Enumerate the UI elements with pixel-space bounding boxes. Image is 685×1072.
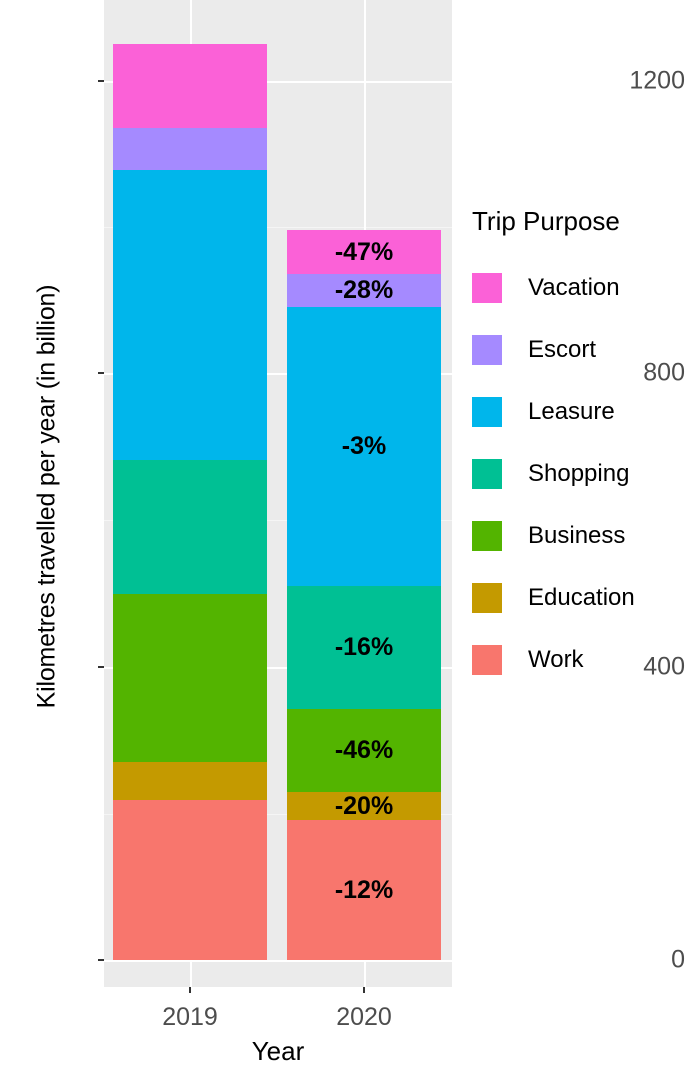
legend-item-label: Escort: [528, 336, 596, 364]
legend-item-business[interactable]: Business: [472, 505, 685, 567]
bar-segment-2020-escort[interactable]: -28%: [287, 274, 441, 307]
y-tick-label-0: 0: [593, 946, 685, 975]
legend-swatch-icon: [472, 273, 502, 303]
legend: Trip Purpose VacationEscortLeasureShoppi…: [472, 206, 685, 691]
bar-segment-2019-work[interactable]: [113, 800, 267, 960]
stacked-bar-chart: Kilometres travelled per year (in billio…: [0, 0, 685, 1072]
legend-items: VacationEscortLeasureShoppingBusinessEdu…: [472, 257, 685, 691]
legend-swatch-icon: [472, 397, 502, 427]
legend-item-label: Education: [528, 584, 635, 612]
bar-2020[interactable]: -12%-20%-46%-16%-3%-28%-47%: [287, 0, 441, 987]
bar-segment-label: -46%: [335, 738, 393, 763]
y-axis-title: Kilometres travelled per year (in billio…: [33, 217, 62, 777]
bar-segment-2020-business[interactable]: -46%: [287, 709, 441, 792]
legend-item-leasure[interactable]: Leasure: [472, 381, 685, 443]
x-tick-mark-2020: [363, 987, 365, 993]
bar-segment-2020-work[interactable]: -12%: [287, 820, 441, 960]
bar-segment-2019-vacation[interactable]: [113, 44, 267, 128]
legend-swatch-icon: [472, 335, 502, 365]
bar-segment-2019-business[interactable]: [113, 594, 267, 762]
legend-swatch-icon: [472, 645, 502, 675]
legend-item-vacation[interactable]: Vacation: [472, 257, 685, 319]
legend-item-escort[interactable]: Escort: [472, 319, 685, 381]
x-axis-title: Year: [104, 1036, 452, 1067]
legend-item-label: Leasure: [528, 398, 615, 426]
bar-segment-label: -20%: [335, 794, 393, 819]
bar-segment-2019-education[interactable]: [113, 762, 267, 800]
legend-item-work[interactable]: Work: [472, 629, 685, 691]
legend-item-label: Vacation: [528, 274, 620, 302]
bar-segment-label: -12%: [335, 878, 393, 903]
legend-item-label: Shopping: [528, 460, 629, 488]
legend-item-education[interactable]: Education: [472, 567, 685, 629]
legend-swatch-icon: [472, 459, 502, 489]
x-tick-label-2020: 2020: [304, 1003, 424, 1032]
legend-swatch-icon: [472, 521, 502, 551]
legend-item-shopping[interactable]: Shopping: [472, 443, 685, 505]
legend-item-label: Business: [528, 522, 625, 550]
bar-segment-2019-shopping[interactable]: [113, 460, 267, 595]
y-tick-label-1200: 1200: [593, 67, 685, 96]
legend-swatch-icon: [472, 583, 502, 613]
bar-segment-2020-education[interactable]: -20%: [287, 792, 441, 820]
plot-panel: -12%-20%-46%-16%-3%-28%-47%: [104, 0, 452, 987]
bar-segment-label: -28%: [335, 278, 393, 303]
bar-segment-2019-escort[interactable]: [113, 128, 267, 170]
legend-title: Trip Purpose: [472, 206, 685, 237]
bar-segment-label: -47%: [335, 240, 393, 265]
x-tick-mark-2019: [189, 987, 191, 993]
bar-segment-2020-vacation[interactable]: -47%: [287, 230, 441, 274]
legend-item-label: Work: [528, 646, 584, 674]
bar-segment-label: -16%: [335, 635, 393, 660]
bar-segment-2020-shopping[interactable]: -16%: [287, 586, 441, 709]
x-tick-label-2019: 2019: [130, 1003, 250, 1032]
bar-2019[interactable]: [113, 0, 267, 987]
bar-segment-2019-leasure[interactable]: [113, 170, 267, 460]
bar-segment-label: -3%: [342, 434, 386, 459]
bar-segment-2020-leasure[interactable]: -3%: [287, 307, 441, 586]
